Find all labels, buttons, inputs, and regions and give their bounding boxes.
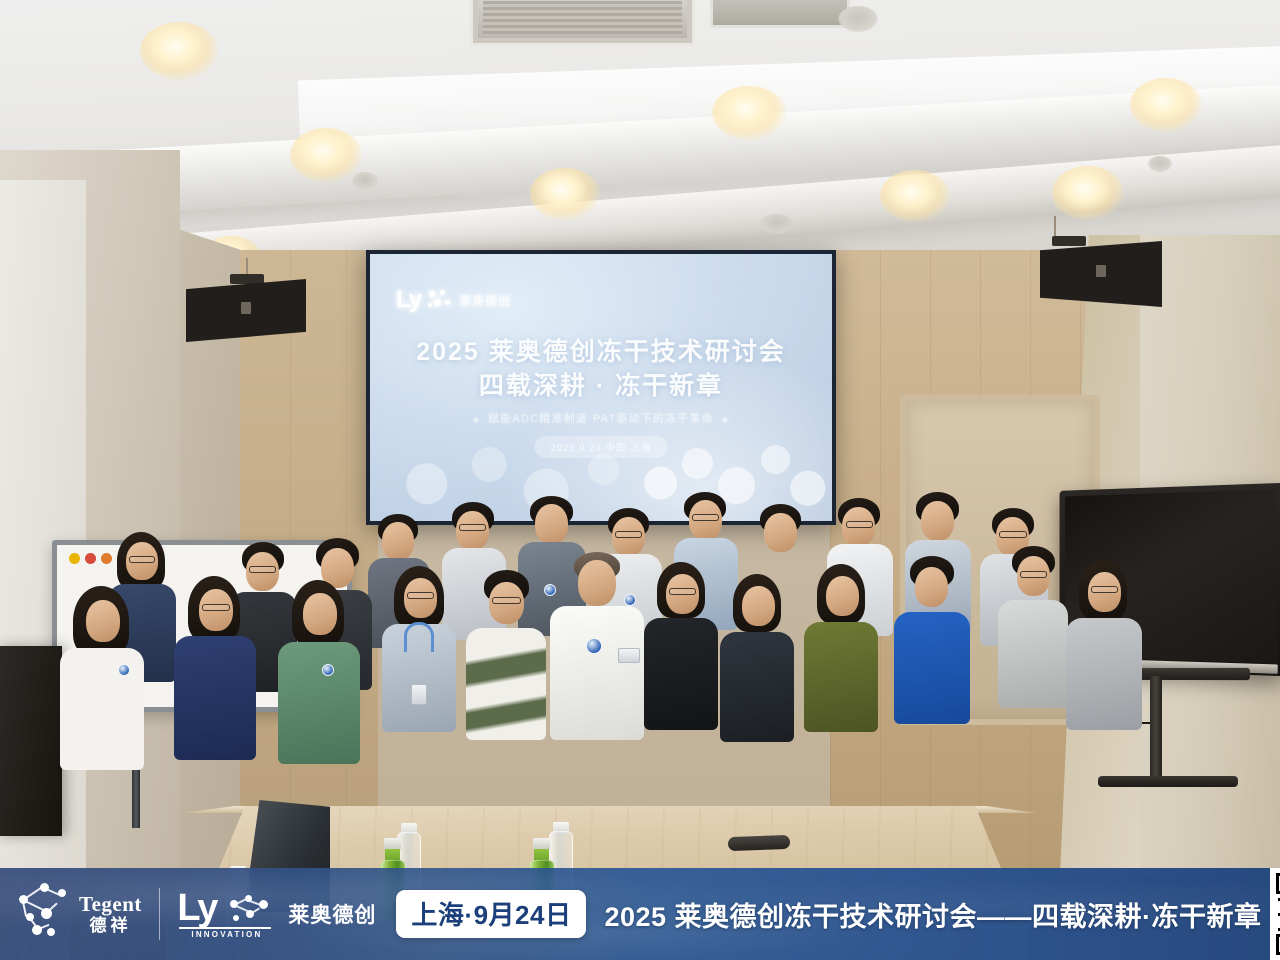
downlight-icon — [712, 86, 786, 140]
slide-subtitle: ◆赋能ADC精准制造·PAT驱动下的冻干革命◆ — [370, 410, 832, 426]
slide-logo-wordmark: Ly — [396, 288, 421, 312]
wall-speaker-left — [186, 279, 306, 342]
downlight-icon — [530, 168, 600, 220]
downlight-icon — [290, 128, 362, 182]
date-badge-text: 上海·9月24日 — [411, 900, 571, 930]
photo-canvas: Ly 莱奥德创 2025 莱奥德创冻干技术研讨会 四载深耕 · 冻干新章 — [0, 0, 1280, 960]
slide-logo-zh: 莱奥德创 — [459, 292, 511, 309]
ceiling-sensor-icon — [760, 214, 794, 234]
date-badge: 上海·9月24日 — [396, 890, 586, 938]
slide-diamond-icon: ◆ — [473, 415, 480, 424]
tegent-name-en: Tegent — [79, 892, 142, 916]
slide-brand-logo: Ly 莱奥德创 — [396, 288, 511, 312]
slide-logo-molecule-icon — [427, 290, 453, 310]
shirt-wassup — [894, 612, 970, 724]
projection-screen-surface: Ly 莱奥德创 2025 莱奥德创冻干技术研讨会 四载深耕 · 冻干新章 — [370, 254, 832, 521]
qr-code-icon[interactable]: Lyo — [1270, 868, 1280, 960]
lyo-tagline: INNOVATION — [191, 930, 262, 939]
tegent-wordmark: Tegent 德祥 — [79, 893, 142, 935]
display-stand-pole — [1150, 676, 1162, 786]
speaker-bracket — [230, 274, 264, 284]
wall-speaker-right — [1040, 241, 1162, 307]
conference-room-scene: Ly 莱奥德创 2025 莱奥德创冻干技术研讨会 四载深耕 · 冻干新章 — [0, 0, 1280, 960]
event-banner: Tegent 德祥 Ly — [0, 868, 1280, 960]
molecule-dots-icon — [229, 895, 273, 925]
ac-vent-icon — [470, 0, 695, 46]
tegent-logo: Tegent 德祥 — [14, 883, 142, 945]
slide-title: 2025 莱奥德创冻干技术研讨会 四载深耕 · 冻干新章 — [370, 336, 832, 403]
ceiling-sensor-icon — [352, 172, 378, 190]
qr-code-pattern: Lyo — [1276, 873, 1280, 955]
molecular-network-icon — [14, 883, 70, 945]
logo-divider — [159, 888, 161, 940]
id-badge-card — [618, 648, 640, 663]
downlight-icon — [880, 170, 950, 222]
slide-date-badge: 2025.9.24 中国·上海 — [534, 436, 667, 458]
ac-vent-secondary-icon — [710, 0, 850, 28]
downlight-icon — [1052, 166, 1124, 220]
slide-title-line2: 四载深耕 · 冻干新章 — [370, 370, 832, 404]
shirt-ephemera — [466, 628, 546, 740]
downlight-icon — [1130, 78, 1202, 132]
speaker-bracket — [1052, 236, 1086, 246]
slide-subtitle-text: 赋能ADC精准制造·PAT驱动下的冻干革命 — [488, 413, 714, 425]
slide-diamond-icon: ◆ — [722, 415, 729, 424]
lyo-logo: Ly INNOVATION 莱奥德创 — [177, 885, 376, 943]
tegent-name-zh: 德祥 — [79, 917, 142, 935]
ceiling-sensor-icon — [1148, 156, 1172, 172]
lyo-wordmark-block: Ly INNOVATION — [177, 885, 281, 943]
lyo-name-zh: 莱奥德创 — [288, 899, 376, 929]
downlight-icon — [140, 22, 218, 80]
lyo-underline — [179, 927, 271, 929]
ceiling-sensor-icon — [838, 6, 878, 32]
projection-screen: Ly 莱奥德创 2025 莱奥德创冻干技术研讨会 四载深耕 · 冻干新章 — [366, 250, 836, 525]
banner-headline: 2025 莱奥德创冻干技术研讨会——四载深耕·冻干新章 — [604, 895, 1261, 934]
id-badge-card — [411, 684, 427, 705]
side-cabinet — [0, 646, 62, 836]
slide-title-line1: 2025 莱奥德创冻干技术研讨会 — [370, 336, 832, 370]
lyo-wordmark: Ly — [177, 889, 216, 927]
table-remote — [728, 835, 790, 851]
